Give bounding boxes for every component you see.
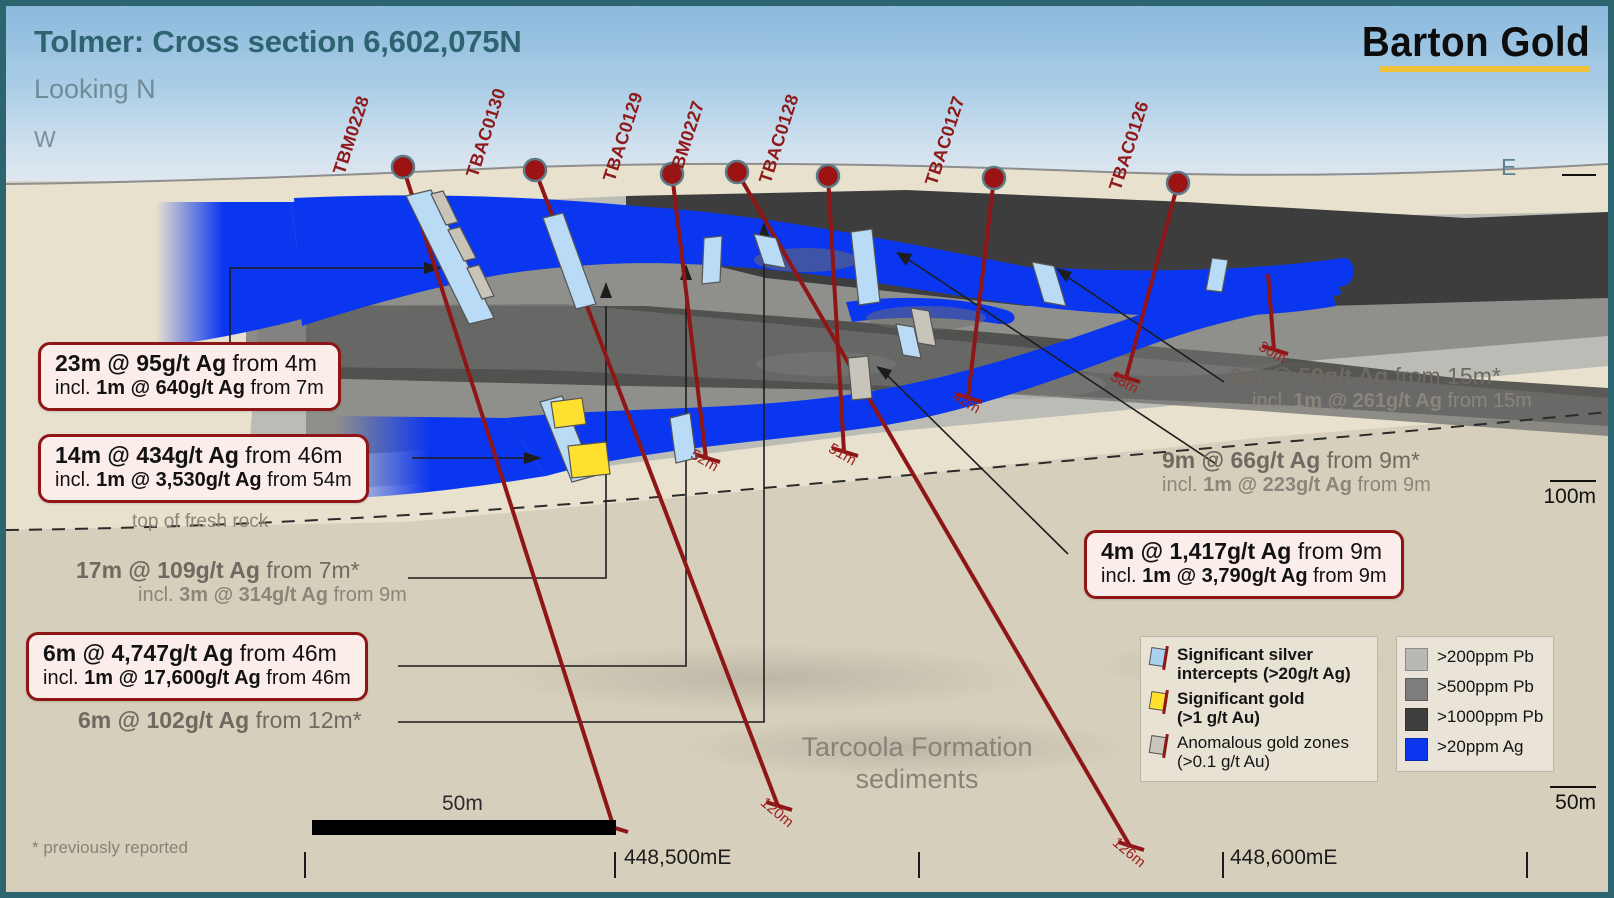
easting-tick-mark bbox=[304, 852, 306, 878]
callout-line2: incl. 1m @ 640g/t Ag from 7m bbox=[55, 377, 324, 401]
callout-4m-1417gt: 4m @ 1,417g/t Ag from 9m incl. 1m @ 3,79… bbox=[1084, 530, 1404, 599]
easting-tick-mark bbox=[918, 852, 920, 878]
callout-14m-434gt: 14m @ 434g/t Ag from 46m incl. 1m @ 3,53… bbox=[38, 434, 369, 503]
callout-line1: 14m @ 434g/t Ag from 46m bbox=[55, 443, 352, 469]
easting-tick-mark bbox=[1526, 852, 1528, 878]
company-name: Barton Gold bbox=[1362, 20, 1590, 64]
top-of-fresh-rock-label: top of fresh rock bbox=[132, 511, 268, 533]
tarcoola-formation-label: Tarcoola Formation sediments bbox=[792, 732, 1042, 796]
easting-tick-mark bbox=[614, 852, 616, 878]
callout-line2: incl. 3m @ 314g/t Ag from 9m bbox=[138, 584, 407, 608]
legend-colors: >200ppm Pb >500ppm Pb >1000ppm Pb >20ppm… bbox=[1396, 636, 1554, 772]
callout-17m-109gt: 17m @ 109g/t Ag from 7m* incl. 3m @ 314g… bbox=[76, 558, 407, 607]
cross-section-figure: Tolmer: Cross section 6,602,075N Looking… bbox=[0, 0, 1614, 898]
callout-line2: incl. 1m @ 261g/t Ag from 15m bbox=[1252, 390, 1532, 414]
sediment-blob-1 bbox=[496, 644, 1036, 712]
callout-line1: 17m @ 109g/t Ag from 7m* bbox=[76, 558, 407, 584]
callout-line2: incl. 1m @ 3,790g/t Ag from 9m bbox=[1101, 565, 1387, 589]
footnote: * previously reported bbox=[32, 838, 188, 858]
swatch-pb500-icon bbox=[1405, 678, 1428, 701]
callout-6m-102gt: 6m @ 102g/t Ag from 12m* bbox=[78, 708, 362, 734]
gold-intercept-flag-icon bbox=[1149, 690, 1169, 714]
west-label: W bbox=[34, 126, 56, 153]
legend-color-item: >1000ppm Pb bbox=[1405, 707, 1545, 731]
callout-line1: 6m @ 102g/t Ag from 12m* bbox=[78, 708, 362, 734]
legend-label: Significant gold(>1 g/t Au) bbox=[1177, 689, 1305, 727]
anomalous-gold-flag-icon bbox=[1149, 734, 1169, 758]
legend-label: >20ppm Ag bbox=[1437, 737, 1524, 756]
callout-9m-59gt: 9m @ 59g/t Ag from 15m* incl. 1m @ 261g/… bbox=[1230, 364, 1532, 413]
callout-6m-4747gt: 6m @ 4,747g/t Ag from 46m incl. 1m @ 17,… bbox=[26, 632, 368, 701]
page-title: Tolmer: Cross section 6,602,075N bbox=[34, 24, 522, 60]
callout-line1: 23m @ 95g/t Ag from 4m bbox=[55, 351, 324, 377]
callout-line2: incl. 1m @ 17,600g/t Ag from 46m bbox=[43, 667, 351, 691]
pb-blob-6 bbox=[756, 352, 896, 376]
legend-label: >500ppm Pb bbox=[1437, 677, 1534, 696]
swatch-ag20-icon bbox=[1405, 738, 1428, 761]
easting-tick-mark bbox=[1222, 852, 1224, 878]
subtitle: Looking N bbox=[34, 74, 156, 105]
vertical-scale-tick-top bbox=[1562, 174, 1596, 176]
legend-item-anomalous: Anomalous gold zones(>0.1 g/t Au) bbox=[1149, 733, 1367, 771]
swatch-pb200-icon bbox=[1405, 648, 1428, 671]
title-bold: Tolmer: bbox=[34, 24, 144, 59]
callout-line1: 9m @ 59g/t Ag from 15m* bbox=[1230, 364, 1532, 390]
vertical-scale-label-100m: 100m bbox=[1543, 485, 1596, 509]
callout-9m-66gt: 9m @ 66g/t Ag from 9m* incl. 1m @ 223g/t… bbox=[1162, 448, 1431, 497]
vertical-scale-label-50m: 50m bbox=[1555, 791, 1596, 815]
legend-label: >1000ppm Pb bbox=[1437, 707, 1543, 726]
silver-intercept-flag-icon bbox=[1149, 646, 1169, 670]
legend-item-gold: Significant gold(>1 g/t Au) bbox=[1149, 689, 1367, 727]
callout-23m-95gt: 23m @ 95g/t Ag from 4m incl. 1m @ 640g/t… bbox=[38, 342, 341, 411]
legend-item-silver: Significant silverintercepts (>20g/t Ag) bbox=[1149, 645, 1367, 683]
legend-label: Anomalous gold zones(>0.1 g/t Au) bbox=[1177, 733, 1349, 771]
callout-line1: 4m @ 1,417g/t Ag from 9m bbox=[1101, 539, 1387, 565]
east-label: E bbox=[1501, 154, 1516, 181]
legend-symbols: Significant silverintercepts (>20g/t Ag)… bbox=[1140, 636, 1378, 782]
legend-color-item: >500ppm Pb bbox=[1405, 677, 1545, 701]
swatch-pb1000-icon bbox=[1405, 708, 1428, 731]
formation-line-1: Tarcoola Formation bbox=[792, 732, 1042, 764]
easting-label-448500: 448,500mE bbox=[624, 846, 731, 870]
callout-line1: 9m @ 66g/t Ag from 9m* bbox=[1162, 448, 1431, 474]
callout-line1: 6m @ 4,747g/t Ag from 46m bbox=[43, 641, 351, 667]
easting-label-448600: 448,600mE bbox=[1230, 846, 1337, 870]
callout-line2: incl. 1m @ 3,530g/t Ag from 54m bbox=[55, 469, 352, 493]
legend-label: Significant silverintercepts (>20g/t Ag) bbox=[1177, 645, 1351, 683]
legend-color-item: >200ppm Pb bbox=[1405, 647, 1545, 671]
scale-bar bbox=[312, 820, 616, 835]
title-rest: Cross section 6,602,075N bbox=[144, 24, 522, 59]
logo-underline bbox=[1380, 66, 1590, 72]
company-logo: Barton Gold bbox=[1342, 20, 1590, 72]
formation-line-2: sediments bbox=[792, 764, 1042, 796]
legend-color-item: >20ppm Ag bbox=[1405, 737, 1545, 761]
legend-label: >200ppm Pb bbox=[1437, 647, 1534, 666]
vertical-scale-tick-50m bbox=[1550, 786, 1596, 788]
vertical-scale-tick-100m bbox=[1550, 480, 1596, 482]
callout-line2: incl. 1m @ 223g/t Ag from 9m bbox=[1162, 474, 1431, 498]
scale-bar-label: 50m bbox=[442, 792, 483, 816]
ag-right-blip bbox=[1296, 262, 1332, 280]
figure-canvas: Tolmer: Cross section 6,602,075N Looking… bbox=[6, 6, 1608, 892]
